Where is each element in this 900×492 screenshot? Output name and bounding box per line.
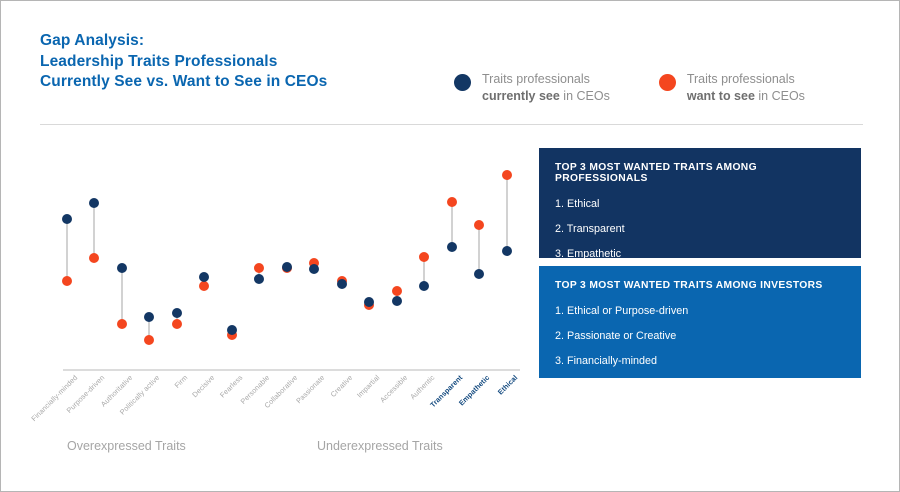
x-axis-tick-label: Impartial [355,373,381,399]
red-circle-icon [659,74,676,91]
data-point-currently-see[interactable] [172,308,182,318]
header-divider [40,124,863,125]
data-point-currently-see[interactable] [254,274,264,284]
legend-label-want-to-see: Traits professionals want to see in CEOs [687,71,805,104]
x-axis-tick-label: Ethical [496,373,520,397]
data-point-currently-see[interactable] [474,269,484,279]
x-axis-tick-label: Firm [173,373,190,390]
data-point-want-to-see[interactable] [447,197,457,207]
data-point-currently-see[interactable] [117,263,127,273]
legend-item-currently-see: Traits professionals currently see in CE… [454,71,610,104]
legend-label-currently-see: Traits professionals currently see in CE… [482,71,610,104]
infobox-investors: TOP 3 MOST WANTED TRAITS AMONG INVESTORS… [539,266,861,378]
x-axis-labels: Financially-mindedPurpose-drivenAuthorit… [56,373,526,423]
data-point-currently-see[interactable] [144,312,154,322]
group-caption-underexpressed: Underexpressed Traits [317,439,443,453]
x-axis-tick-label: Financially-minded [29,373,79,423]
chart-plot-area [56,141,526,381]
infobox-investors-item-2: 2. Passionate or Creative [555,329,845,343]
title-line-2: Leadership Traits Professionals [40,52,440,73]
data-point-want-to-see[interactable] [474,220,484,230]
dumbbell-chart [56,141,526,381]
data-point-currently-see[interactable] [282,262,292,272]
x-axis-tick-label: Fearless [218,373,244,399]
data-point-want-to-see[interactable] [502,170,512,180]
x-axis-tick-label: Passionate [294,373,326,405]
data-point-currently-see[interactable] [364,297,374,307]
page-title: Gap Analysis: Leadership Traits Professi… [40,31,440,93]
data-point-currently-see[interactable] [419,281,429,291]
data-point-currently-see[interactable] [89,198,99,208]
infographic-page: Gap Analysis: Leadership Traits Professi… [0,0,900,492]
data-point-want-to-see[interactable] [199,281,209,291]
infobox-investors-title: TOP 3 MOST WANTED TRAITS AMONG INVESTORS [555,280,845,291]
title-line-1: Gap Analysis: [40,31,440,52]
data-point-want-to-see[interactable] [254,263,264,273]
data-point-currently-see[interactable] [447,242,457,252]
legend-line1-want: Traits professionals [687,72,795,86]
connector-line [451,202,453,247]
x-axis-tick-label: Creative [328,373,354,399]
data-point-want-to-see[interactable] [117,319,127,329]
infobox-professionals-item-3: 3. Empathetic [555,247,845,261]
legend-emphasis-want: want to see [687,89,755,103]
infobox-professionals-item-1: 1. Ethical [555,197,845,211]
data-point-currently-see[interactable] [309,264,319,274]
legend-item-want-to-see: Traits professionals want to see in CEOs [659,71,805,104]
title-line-3: Currently See vs. Want to See in CEOs [40,72,440,93]
data-point-currently-see[interactable] [502,246,512,256]
data-point-want-to-see[interactable] [89,253,99,263]
infobox-professionals-item-2: 2. Transparent [555,222,845,236]
data-point-currently-see[interactable] [337,279,347,289]
connector-line [93,203,95,258]
connector-line [478,225,480,274]
x-axis-tick-label: Accessible [378,373,409,404]
data-point-want-to-see[interactable] [392,286,402,296]
data-point-currently-see[interactable] [62,214,72,224]
connector-line [121,268,123,324]
x-axis-tick-label: Decisive [190,373,216,399]
infobox-professionals-title: TOP 3 MOST WANTED TRAITS AMONG PROFESSIO… [555,162,845,184]
data-point-want-to-see[interactable] [62,276,72,286]
x-axis-line [63,369,520,371]
infobox-investors-item-3: 3. Financially-minded [555,354,845,368]
data-point-currently-see[interactable] [392,296,402,306]
legend-suffix-currently: in CEOs [560,89,610,103]
connector-line [66,219,68,281]
group-caption-overexpressed: Overexpressed Traits [67,439,186,453]
navy-circle-icon [454,74,471,91]
data-point-want-to-see[interactable] [419,252,429,262]
data-point-want-to-see[interactable] [172,319,182,329]
legend-suffix-want: in CEOs [755,89,805,103]
data-point-currently-see[interactable] [199,272,209,282]
connector-line [506,175,508,251]
infobox-investors-item-1: 1. Ethical or Purpose-driven [555,304,845,318]
chart-legend: Traits professionals currently see in CE… [454,71,805,104]
data-point-currently-see[interactable] [227,325,237,335]
legend-line1-currently: Traits professionals [482,72,590,86]
legend-emphasis-currently: currently see [482,89,560,103]
infobox-professionals: TOP 3 MOST WANTED TRAITS AMONG PROFESSIO… [539,148,861,258]
data-point-want-to-see[interactable] [144,335,154,345]
